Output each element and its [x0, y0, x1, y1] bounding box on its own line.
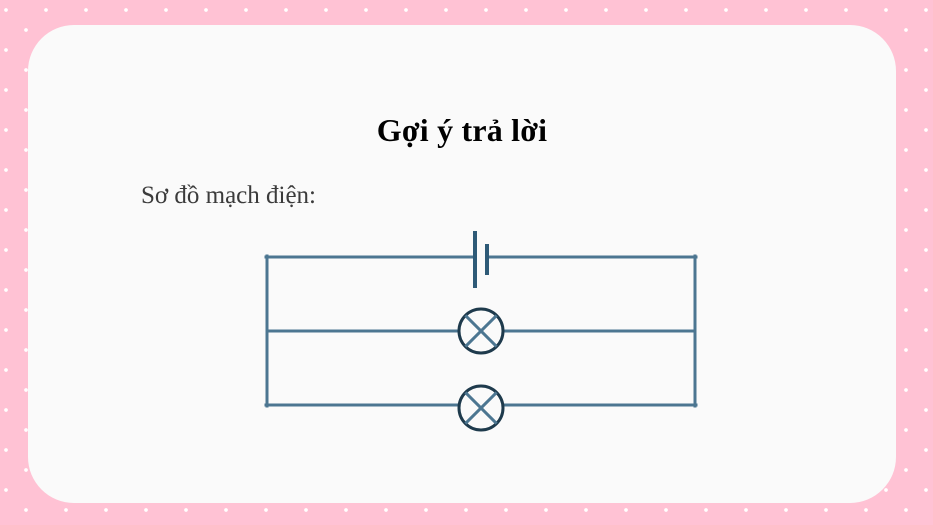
battery-symbol — [475, 231, 487, 288]
lamp-symbol-1 — [459, 309, 503, 353]
circuit-diagram — [208, 200, 748, 440]
page-title: Gợi ý trả lời — [28, 111, 896, 149]
slide-canvas: Gợi ý trả lời Sơ đồ mạch điện: — [0, 0, 933, 525]
lamp-symbol-2 — [459, 386, 503, 430]
circuit-diagram-svg — [208, 200, 748, 440]
content-card: Gợi ý trả lời Sơ đồ mạch điện: — [28, 25, 896, 503]
